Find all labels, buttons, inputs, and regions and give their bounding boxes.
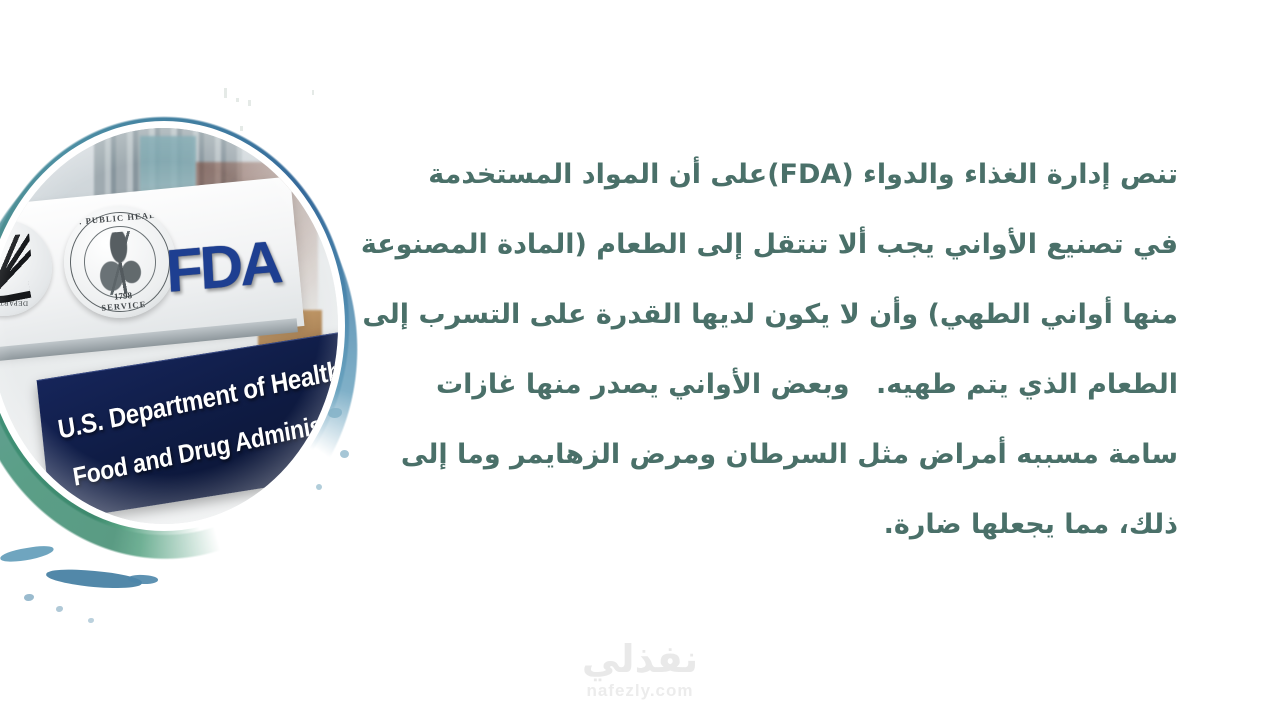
paragraph-line-segment: سامة مسببه أمراض مثل السرطان ومرض الزهاي… bbox=[401, 420, 1178, 490]
brush-splatter-icon bbox=[88, 618, 94, 623]
brush-splatter-icon bbox=[56, 606, 63, 612]
paragraph-line: في تصنيع الأواني يجب ألا تنتقل إلى الطعا… bbox=[436, 210, 1178, 280]
hhs-seal-ring-text: DEPARTMENT OF bbox=[0, 298, 28, 307]
brush-splatter-icon bbox=[0, 544, 55, 564]
brush-splatter-icon bbox=[24, 594, 34, 601]
fda-wordmark: FDA bbox=[164, 227, 281, 306]
paragraph-line: الطعام الذي يتم طهيه. وبعض الأواني يصدر … bbox=[436, 350, 1178, 420]
paragraph-line-segment: منها أواني الطهي) وأن لا يكون لديها القد… bbox=[362, 280, 1178, 350]
fda-photo-block: DEPARTMENT OF U.S. PUBLIC HEALTH SERVICE… bbox=[0, 78, 390, 588]
agency-name-board: U.S. Department of Health and Human Serv… bbox=[37, 328, 338, 521]
paragraph-line-segment: ذلك، مما يجعلها ضارة. bbox=[884, 490, 1178, 560]
paragraph-line: سامة مسببه أمراض مثل السرطان ومرض الزهاي… bbox=[436, 420, 1178, 490]
paragraph-line: منها أواني الطهي) وأن لا يكون لديها القد… bbox=[436, 280, 1178, 350]
paragraph-line: تنص إدارة الغذاء والدواء (FDA) على أن ال… bbox=[436, 140, 1178, 210]
paragraph-line-segment: على أن المواد المستخدمة bbox=[428, 140, 767, 210]
brush-splatter-icon bbox=[340, 450, 349, 458]
paragraph-line-segment: في تصنيع الأواني يجب ألا تنتقل إلى الطعا… bbox=[361, 210, 1178, 280]
paragraph-line-segment: تنص إدارة الغذاء والدواء (FDA) bbox=[767, 140, 1178, 210]
body-text-panel: تنص إدارة الغذاء والدواء (FDA) على أن ال… bbox=[436, 140, 1178, 560]
fda-sign-photo: DEPARTMENT OF U.S. PUBLIC HEALTH SERVICE… bbox=[0, 128, 338, 524]
photo-scene: DEPARTMENT OF U.S. PUBLIC HEALTH SERVICE… bbox=[0, 128, 338, 524]
seal-emblem-figure-icon bbox=[93, 230, 146, 296]
watermark: نفذلي nafezly.com bbox=[582, 640, 698, 699]
slide-canvas: DEPARTMENT OF U.S. PUBLIC HEALTH SERVICE… bbox=[0, 0, 1280, 720]
watermark-domain: nafezly.com bbox=[582, 682, 698, 699]
paragraph-line: ذلك، مما يجعلها ضارة. bbox=[436, 490, 1178, 560]
paragraph-line-segment: وبعض الأواني يصدر منها غازات bbox=[436, 350, 850, 420]
paragraph-line-segment: الطعام الذي يتم طهيه. bbox=[876, 350, 1178, 420]
watermark-brand-arabic: نفذلي bbox=[582, 640, 698, 678]
